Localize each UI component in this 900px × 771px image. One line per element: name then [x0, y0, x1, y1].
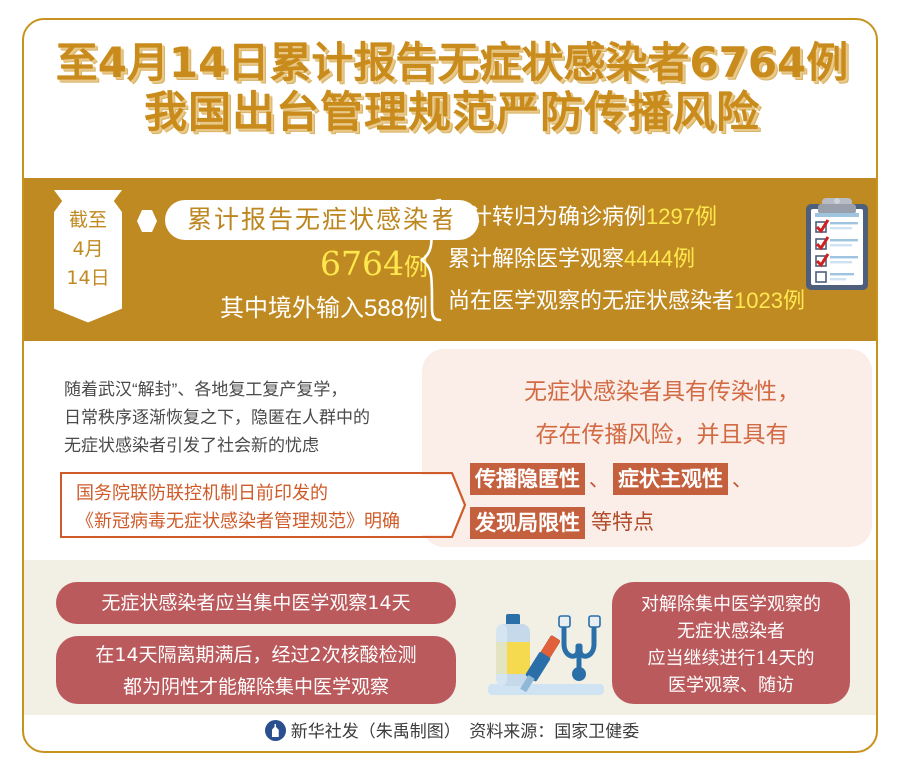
measure-followup-line-1: 对解除集中医学观察的 — [612, 591, 850, 618]
date-ribbon-line-1: 截至 — [54, 206, 122, 235]
callout-arrow-icon — [422, 472, 466, 538]
date-ribbon: 截至 4月 14日 — [54, 190, 122, 328]
measure-testing-line-2: 都为阴性才能解除集中医学观察 — [56, 671, 456, 703]
measure-pill-testing: 在14天隔离期满后，经过2次核酸检测 都为阴性才能解除集中医学观察 — [56, 636, 456, 704]
breakdown-row: 尚在医学观察的无症状感染者1023例 — [448, 280, 788, 322]
breakdown-value-2: 1023例 — [734, 288, 805, 313]
bottle-syringe-stethoscope-icon — [486, 602, 616, 707]
infographic-poster: 至4月14日累计报告无症状感染者6764例 我国出台管理规范严防传播风险 截至 … — [0, 0, 900, 771]
clipboard-checklist-icon — [796, 196, 878, 294]
characteristics-tail-text: 等特点 — [585, 510, 654, 534]
characteristics-panel: 无症状感染者具有传染性， 存在传播风险，并且具有 传播隐匿性、症状主观性、 发现… — [422, 349, 872, 547]
credit-text: 新华社发（朱禹制图） 资料来源：国家卫健委 — [291, 722, 640, 741]
characteristics-text: 无症状感染者具有传染性， 存在传播风险，并且具有 传播隐匿性、症状主观性、 发现… — [462, 371, 862, 544]
context-line-2: 日常秩序逐渐恢复之下，隐匿在人群中的 — [64, 404, 434, 432]
total-number-value: 6764 — [320, 244, 404, 283]
measure-followup-line-2: 无症状感染者 — [612, 618, 850, 645]
title-line-2: 我国出台管理规范严防传播风险 — [24, 88, 878, 138]
callout-line-1: 国务院联防联控机制日前印发的 — [76, 479, 458, 507]
regulation-callout: 国务院联防联控机制日前印发的 《新冠病毒无症状感染者管理规范》明确 — [60, 472, 460, 538]
characteristics-line-1: 无症状感染者具有传染性， — [462, 371, 862, 414]
context-paragraph: 随着武汉“解封”、各地复工复产复学， 日常秩序逐渐恢复之下，隐匿在人群中的 无症… — [64, 376, 434, 460]
measures-section: 无症状感染者应当集中医学观察14天 在14天隔离期满后，经过2次核酸检测 都为阴… — [24, 560, 878, 715]
breakdown-row: 累计解除医学观察4444例 — [448, 238, 788, 280]
tag-detection-limitation: 发现局限性 — [470, 507, 585, 539]
measure-followup-line-3: 应当继续进行14天的 — [612, 645, 850, 672]
curly-brace-icon — [418, 198, 444, 322]
measure-pill-observation: 无症状感染者应当集中医学观察14天 — [56, 582, 456, 624]
measure-testing-line-1: 在14天隔离期满后，经过2次核酸检测 — [56, 639, 456, 671]
statistics-band: 截至 4月 14日 累计报告无症状感染者 6764例 其中境外输入588例 累计… — [24, 178, 878, 341]
middle-section: 无症状感染者具有传染性， 存在传播风险，并且具有 传播隐匿性、症状主观性、 发现… — [24, 341, 878, 560]
breakdown-value-0: 1297例 — [646, 204, 717, 229]
date-ribbon-line-2: 4月 — [54, 235, 122, 264]
tag-separator: 、 — [728, 467, 756, 491]
tag-separator: 、 — [585, 467, 613, 491]
characteristics-tags-row-1: 传播隐匿性、症状主观性、 — [462, 457, 862, 501]
breakdown-value-1: 4444例 — [624, 246, 695, 271]
breakdown-row: 累计转归为确诊病例1297例 — [448, 196, 788, 238]
characteristics-tags-row-2: 发现局限性等特点 — [462, 501, 862, 545]
tag-transmission-concealment: 传播隐匿性 — [470, 463, 585, 495]
breakdown-list: 累计转归为确诊病例1297例 累计解除医学观察4444例 尚在医学观察的无症状感… — [448, 196, 788, 322]
callout-line-2: 《新冠病毒无症状感染者管理规范》明确 — [76, 507, 458, 535]
total-asymptomatic-number: 6764例 — [320, 244, 428, 283]
hexagon-bullet-icon — [137, 210, 157, 232]
footer-credit: 新华社发（朱禹制图） 资料来源：国家卫健委 — [24, 720, 878, 744]
breakdown-text-1: 累计解除医学观察 — [448, 246, 624, 271]
breakdown-text-2: 尚在医学观察的无症状感染者 — [448, 288, 734, 313]
measure-followup-line-4: 医学观察、随访 — [612, 672, 850, 699]
breakdown-text-0: 累计转归为确诊病例 — [448, 204, 646, 229]
context-line-1: 随着武汉“解封”、各地复工复产复学， — [64, 376, 434, 404]
context-line-3: 无症状感染者引发了社会新的忧虑 — [64, 432, 434, 460]
imported-cases-line: 其中境外输入588例 — [220, 288, 428, 323]
poster-frame: 至4月14日累计报告无症状感染者6764例 我国出台管理规范严防传播风险 截至 … — [22, 18, 878, 753]
xinhua-logo-icon — [265, 720, 286, 741]
characteristics-line-2: 存在传播风险，并且具有 — [462, 414, 862, 457]
date-ribbon-line-3: 14日 — [54, 264, 122, 293]
measure-pill-followup: 对解除集中医学观察的 无症状感染者 应当继续进行14天的 医学观察、随访 — [612, 582, 850, 704]
title-block: 至4月14日累计报告无症状感染者6764例 我国出台管理规范严防传播风险 — [24, 38, 878, 138]
tag-symptom-subjectivity: 症状主观性 — [613, 463, 728, 495]
title-line-1: 至4月14日累计报告无症状感染者6764例 — [24, 38, 878, 88]
